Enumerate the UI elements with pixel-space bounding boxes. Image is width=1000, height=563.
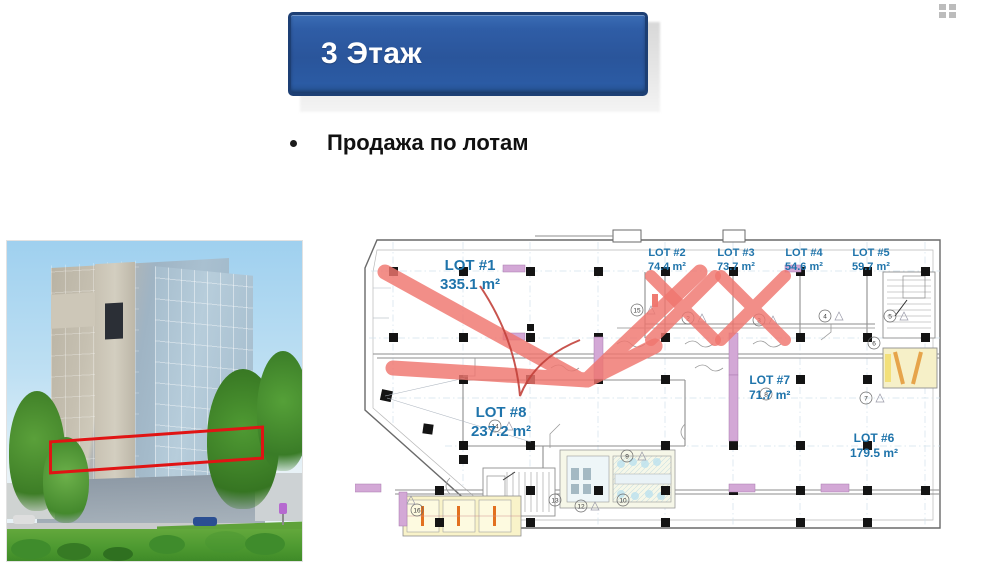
bullet-dot-icon [290, 140, 297, 147]
sign-pole [282, 513, 284, 525]
lot-label-7: LOT #7 71.7 m² [749, 373, 790, 404]
bush [11, 539, 51, 559]
service-core [560, 450, 675, 508]
elevator-bottom [403, 496, 521, 536]
car [193, 517, 217, 526]
building-render-photo [6, 240, 303, 562]
bush [149, 535, 185, 554]
svg-text:9: 9 [625, 454, 629, 461]
slide: 3 Этаж Продажа по лотам [0, 0, 1000, 563]
elevator-right [883, 348, 937, 388]
svg-text:4: 4 [823, 314, 827, 321]
lot-label-6: LOT #6 179.5 m² [850, 431, 898, 462]
svg-text:7: 7 [864, 396, 868, 403]
car [13, 515, 35, 524]
lot-label-2: LOT #2 74.4 m² [648, 246, 686, 274]
title-banner: 3 Этаж [288, 12, 648, 96]
svg-text:5: 5 [888, 314, 892, 321]
svg-text:13: 13 [551, 498, 559, 505]
bush [103, 547, 133, 561]
svg-text:16: 16 [413, 508, 421, 515]
lot-label-8: LOT #8 237.2 m² [471, 403, 531, 441]
svg-text:10: 10 [619, 498, 627, 505]
svg-text:15: 15 [633, 308, 641, 315]
bush [205, 531, 247, 553]
lot-label-5: LOT #5 59.7 m² [852, 246, 890, 274]
page-title: 3 Этаж [321, 37, 422, 71]
staircase-right [883, 272, 935, 338]
bullet-row: Продажа по лотам [290, 130, 529, 156]
lot-label-1: LOT #1 335.1 m² [440, 256, 500, 294]
core-slit [105, 302, 123, 339]
bush [57, 543, 91, 560]
floor-plan: 15 2 3 4 5 6 7 8 9 10 12 13 14 16 [355, 228, 995, 553]
four-squares-icon [938, 2, 960, 20]
bush [245, 533, 285, 555]
svg-text:12: 12 [577, 504, 585, 511]
svg-text:6: 6 [872, 341, 876, 348]
bullet-text: Продажа по лотам [327, 130, 529, 156]
lot-label-4: LOT #4 54.6 m² [785, 246, 823, 274]
street-sign [279, 503, 287, 514]
lot-label-3: LOT #3 73.7 m² [717, 246, 755, 274]
